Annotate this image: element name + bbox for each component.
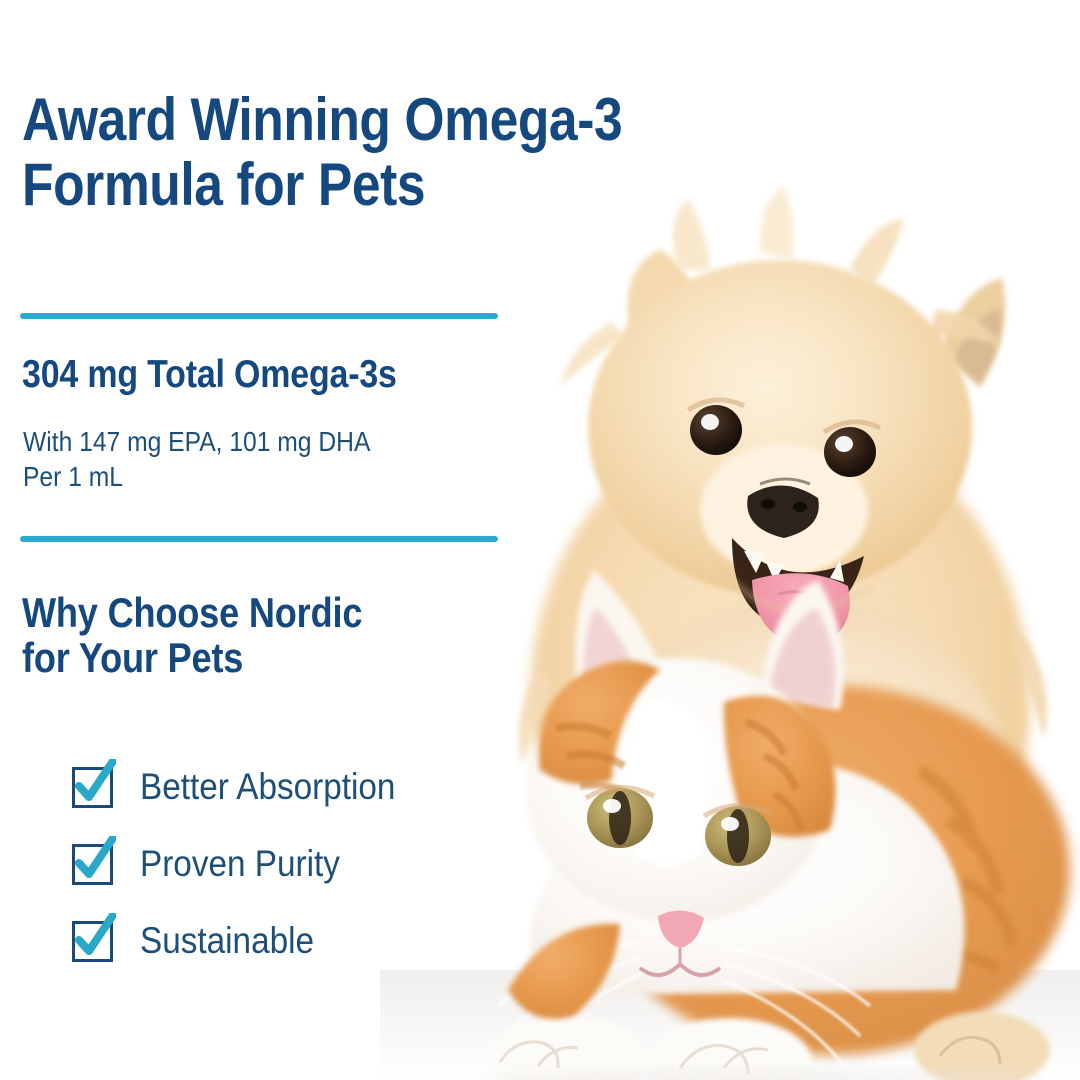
why-choose-heading: Why Choose Nordic for Your Pets bbox=[22, 590, 538, 681]
omega3-detail-text: With 147 mg EPA, 101 mg DHA Per 1 mL bbox=[23, 424, 569, 495]
list-item: Proven Purity bbox=[70, 825, 540, 902]
divider-top bbox=[20, 313, 498, 319]
page-title: Award Winning Omega-3 Formula for Pets bbox=[22, 88, 676, 218]
benefit-label: Better Absorption bbox=[140, 768, 395, 805]
checkbox-checked-icon bbox=[70, 764, 116, 810]
list-item: Sustainable bbox=[70, 902, 540, 979]
benefit-label: Sustainable bbox=[140, 922, 314, 959]
checkbox-checked-icon bbox=[70, 841, 116, 887]
benefit-label: Proven Purity bbox=[140, 845, 340, 882]
checkbox-checked-icon bbox=[70, 918, 116, 964]
divider-bottom bbox=[20, 536, 498, 542]
copy-column: Award Winning Omega-3 Formula for Pets 3… bbox=[0, 0, 540, 1080]
benefits-list: Better Absorption Proven Purity bbox=[70, 748, 540, 979]
omega3-total-heading: 304 mg Total Omega-3s bbox=[22, 355, 561, 396]
product-feature-panel: Award Winning Omega-3 Formula for Pets 3… bbox=[0, 0, 1080, 1080]
list-item: Better Absorption bbox=[70, 748, 540, 825]
